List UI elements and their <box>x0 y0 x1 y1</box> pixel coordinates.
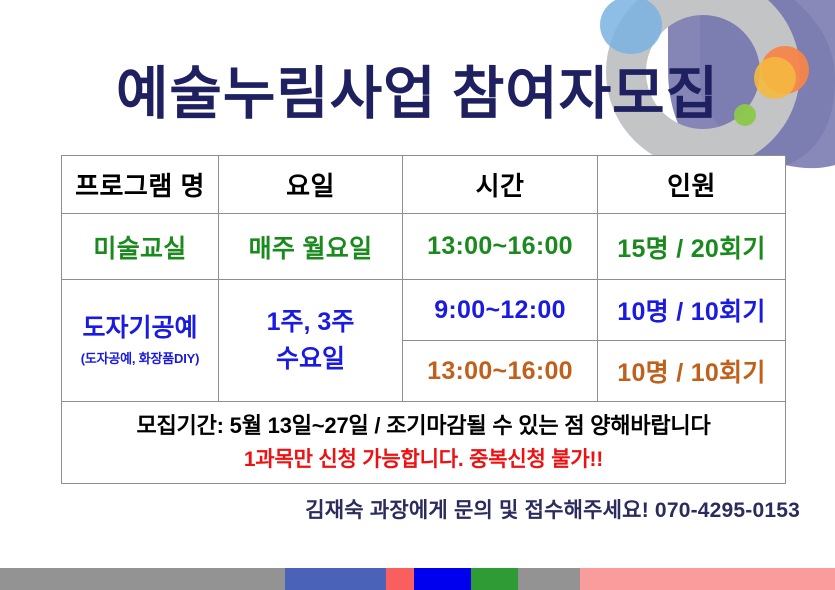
program-table: 프로그램 명 요일 시간 인원 미술교실 매주 월요일 13:00~16:00 … <box>61 155 786 484</box>
blue-circle-icon <box>600 0 662 54</box>
table-header-row: 프로그램 명 요일 시간 인원 <box>62 156 786 214</box>
column-header-day: 요일 <box>219 156 403 214</box>
cell-day-art: 매주 월요일 <box>219 214 403 280</box>
cell-capacity-pottery-morning: 10명 / 10회기 <box>598 280 786 341</box>
contact-line: 김재숙 과장에게 문의 및 접수해주세요! 070-4295-0153 <box>0 494 800 524</box>
bottom-bar-segment-1 <box>0 568 285 590</box>
program-table-wrapper: 프로그램 명 요일 시간 인원 미술교실 매주 월요일 13:00~16:00 … <box>61 155 785 484</box>
program-subtitle-pottery: (도자공예, 화장품DIY) <box>62 348 218 367</box>
cell-time-art: 13:00~16:00 <box>403 214 598 280</box>
bottom-bar-segment-2 <box>285 568 386 590</box>
program-name-pottery: 도자기공예 <box>62 314 218 343</box>
cell-notice: 모집기간: 5월 13일~27일 / 조기마감될 수 있는 점 양해바랍니다 1… <box>62 402 786 484</box>
column-header-program: 프로그램 명 <box>62 156 219 214</box>
cell-capacity-art: 15명 / 20회기 <box>598 214 786 280</box>
bottom-bar-segment-6 <box>518 568 580 590</box>
column-header-capacity: 인원 <box>598 156 786 214</box>
bottom-bar-segment-5 <box>471 568 518 590</box>
cell-program-pottery: 도자기공예 (도자공예, 화장품DIY) <box>62 280 219 402</box>
bottom-color-bar <box>0 568 835 590</box>
cell-day-pottery: 1주, 3주 수요일 <box>219 280 403 402</box>
cell-capacity-pottery-afternoon: 10명 / 10회기 <box>598 341 786 402</box>
cell-time-pottery-afternoon: 13:00~16:00 <box>403 341 598 402</box>
table-footer-row: 모집기간: 5월 13일~27일 / 조기마감될 수 있는 점 양해바랍니다 1… <box>62 402 786 484</box>
bottom-bar-segment-7 <box>580 568 835 590</box>
column-header-time: 시간 <box>403 156 598 214</box>
notice-warning: 1과목만 신청 가능합니다. 중복신청 불가!! <box>62 446 785 473</box>
day-line-2: 수요일 <box>219 341 402 377</box>
cell-time-pottery-morning: 9:00~12:00 <box>403 280 598 341</box>
notice-period: 모집기간: 5월 13일~27일 / 조기마감될 수 있는 점 양해바랍니다 <box>62 412 785 441</box>
table-row: 미술교실 매주 월요일 13:00~16:00 15명 / 20회기 <box>62 214 786 280</box>
cell-program-art: 미술교실 <box>62 214 219 280</box>
page-title: 예술누림사업 참여자모집 <box>0 48 835 130</box>
table-row: 도자기공예 (도자공예, 화장품DIY) 1주, 3주 수요일 9:00~12:… <box>62 280 786 341</box>
bottom-bar-segment-3 <box>386 568 414 590</box>
day-line-1: 1주, 3주 <box>219 304 402 340</box>
bottom-bar-segment-4 <box>414 568 471 590</box>
